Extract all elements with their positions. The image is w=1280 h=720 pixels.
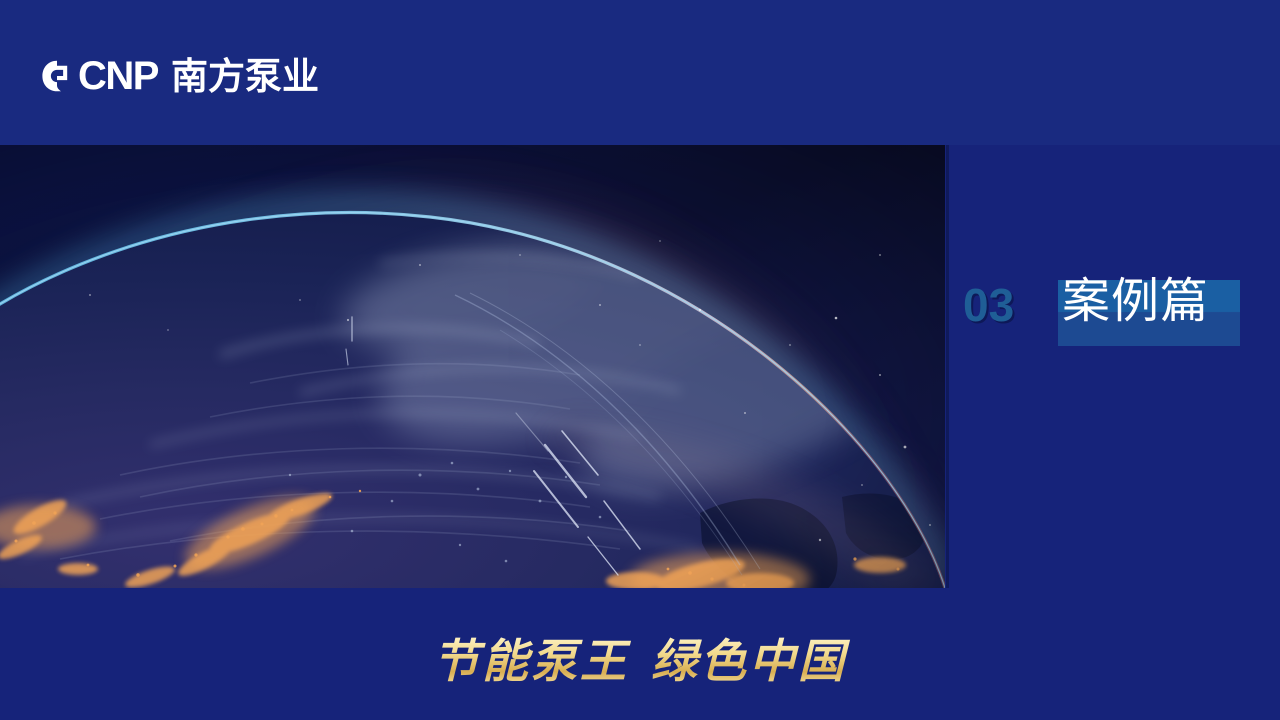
slogan-phrase-left: 节能泵王	[433, 634, 629, 688]
cnp-monogram-icon	[40, 59, 74, 93]
footer-slogan: 节能泵王绿色中国	[0, 636, 1280, 687]
section-number: 03	[963, 282, 1014, 328]
section-title: 案例篇	[1062, 277, 1209, 325]
header-band: CNP 南方泵业	[0, 0, 1280, 145]
logo-chinese-text: 南方泵业	[171, 58, 319, 95]
logo-latin-text: CNP	[78, 56, 158, 96]
earth-from-space-image	[0, 145, 945, 588]
brand-logo[interactable]: CNP 南方泵业	[40, 53, 319, 99]
slogan-phrase-right: 绿色中国	[651, 634, 847, 688]
slide-root: CNP 南方泵业	[0, 0, 1280, 720]
earth-photo-panel	[0, 145, 945, 588]
photo-panel-divider	[946, 145, 949, 588]
section-marker: 03 案例篇	[950, 265, 1250, 360]
